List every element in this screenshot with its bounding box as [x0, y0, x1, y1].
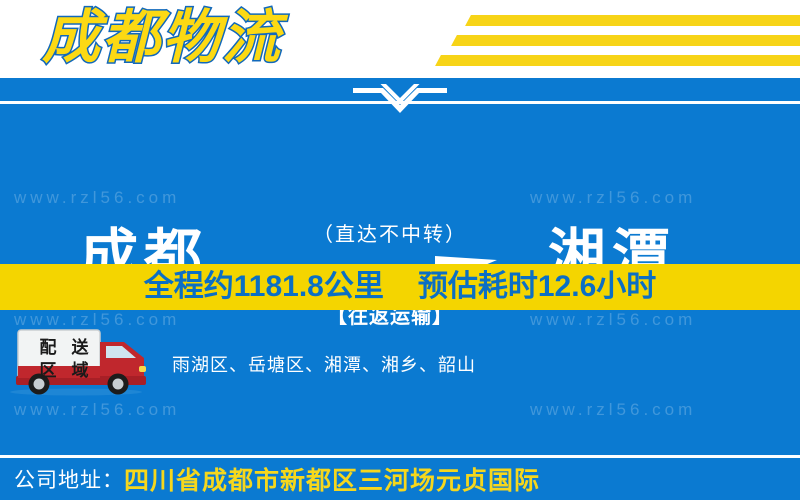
stats-bar: 全程约1181.8公里 预估耗时12.6小时 [0, 264, 800, 310]
banner-body: www.rzl56.com www.rzl56.com www.rzl56.co… [0, 78, 800, 500]
truck-label-char-2: 送 [72, 338, 89, 357]
stripe-3 [435, 55, 800, 66]
logistics-banner: 成都物流 www.rzl56.com www.rzl56.com www.rzl… [0, 0, 800, 500]
decorative-stripes [430, 8, 800, 74]
address-value: 四川省成都市新都区三河场元贞国际 [124, 461, 540, 497]
truck-label-char-1: 配 [40, 338, 57, 357]
duration-value: 预估耗时12.6小时 [418, 270, 656, 304]
stripe-1 [465, 15, 800, 26]
delivery-truck-icon: 配 送 区 域 [6, 326, 156, 396]
double-chevron-down-icon [353, 84, 447, 118]
truck-label-char-3: 区 [40, 361, 57, 380]
truck-label: 配 送 区 域 [32, 336, 96, 382]
page-title: 成都物流 [42, 4, 282, 72]
stats-inner: 全程约1181.8公里 预估耗时12.6小时 [144, 270, 657, 304]
truck-label-char-4: 域 [72, 361, 89, 380]
direct-service-tag: （直达不中转） [275, 218, 505, 247]
banner-header: 成都物流 [0, 0, 800, 78]
address-label: 公司地址： [0, 464, 124, 494]
banner-footer: 公司地址： 四川省成都市新都区三河场元贞国际 [0, 458, 800, 500]
delivery-areas: 雨湖区、岳塘区、湘潭、湘乡、韶山 [172, 351, 476, 377]
distance-value: 全程约1181.8公里 [144, 270, 384, 304]
stripe-2 [451, 35, 800, 46]
delivery-row: 配 送 区 域 雨湖区、岳塘区、湘潭、湘乡、韶山 [0, 324, 800, 414]
